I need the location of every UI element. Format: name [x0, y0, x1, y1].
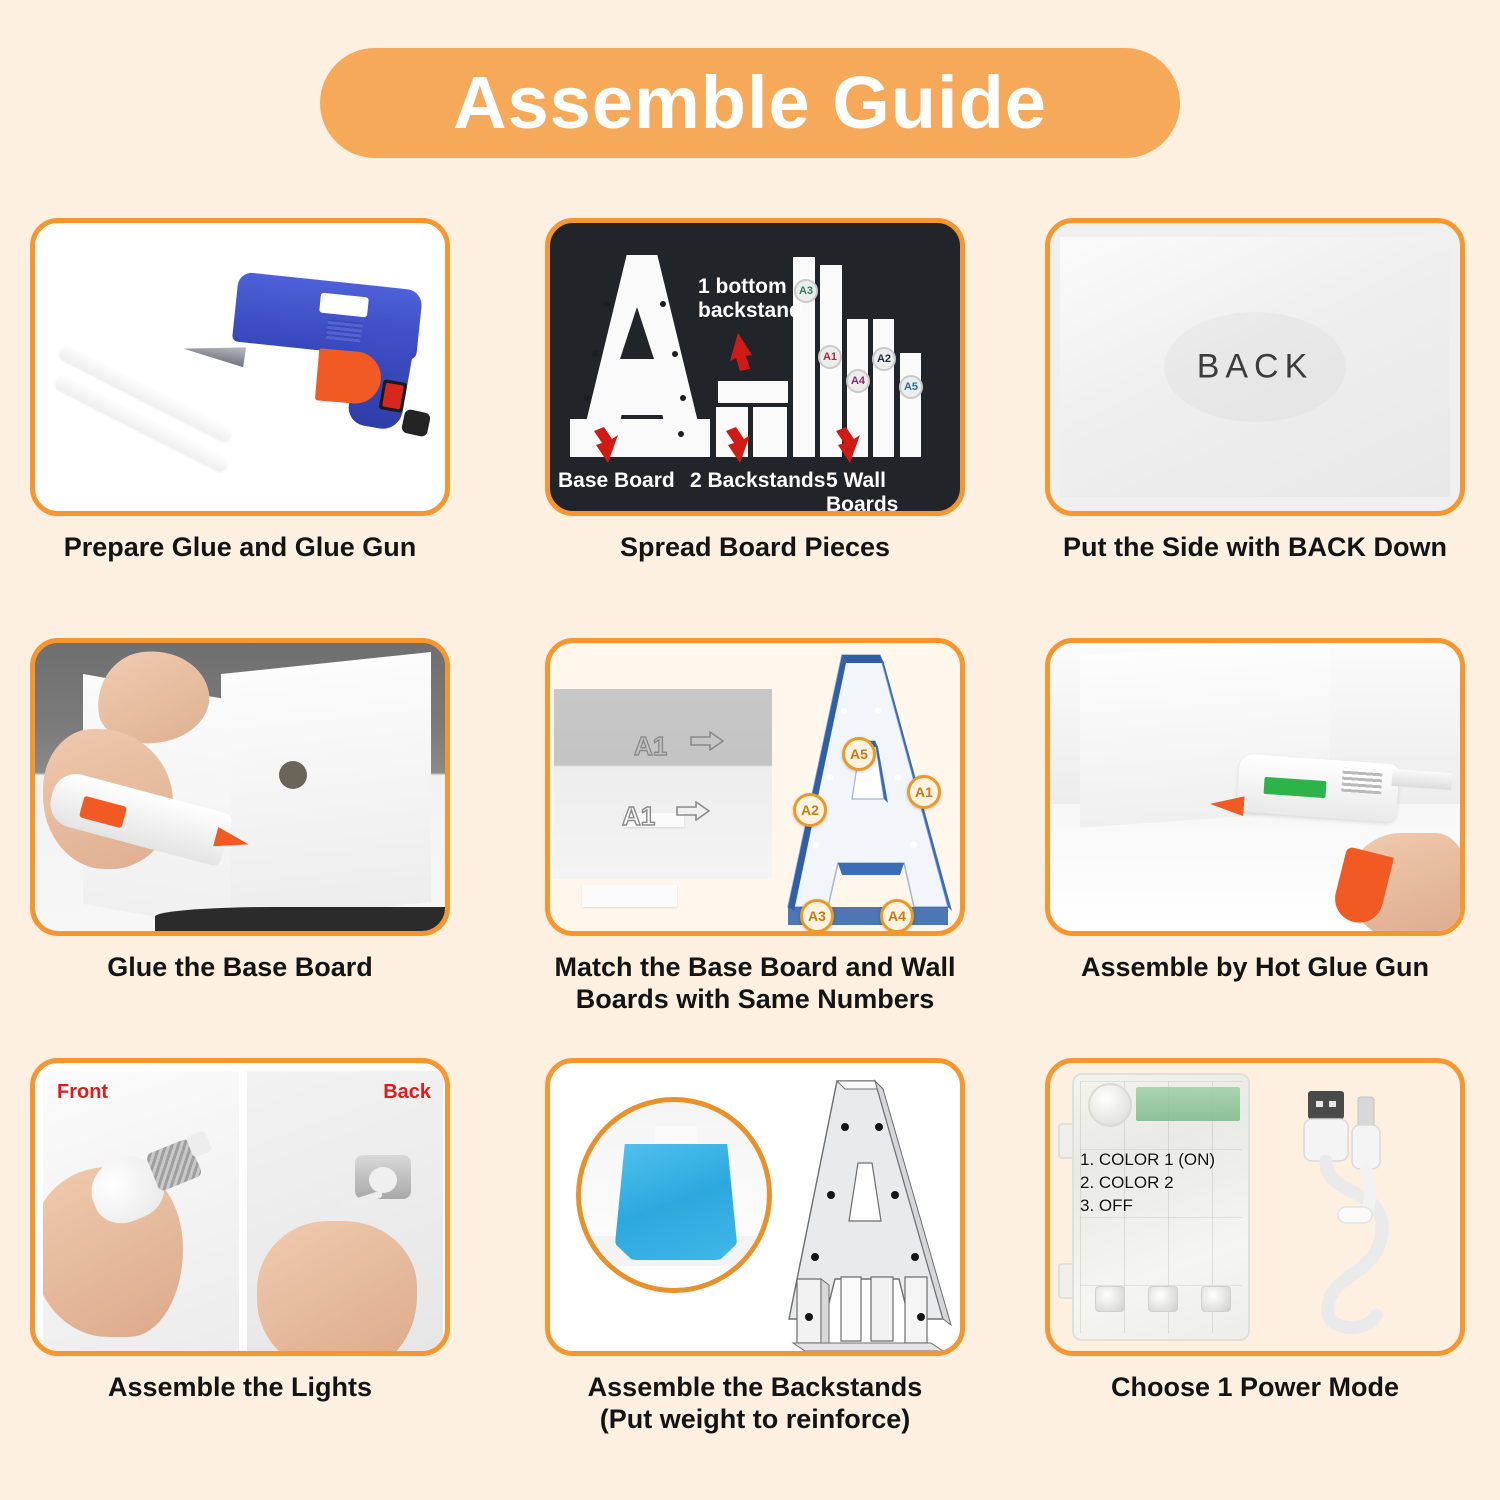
- board-pieces-diagram: A3 A1 A4 A2 A5 1 bottom backstand Base B…: [550, 223, 960, 511]
- step-5-caption: Match the Base Board and Wall Boards wit…: [545, 952, 965, 1016]
- led-hole: [678, 431, 684, 437]
- letter-badge-a3: A3: [800, 899, 834, 931]
- board-mark-a1: A1: [634, 731, 667, 762]
- annotation-base-board: Base Board: [558, 469, 675, 493]
- piece-badge-a4: A4: [846, 369, 870, 393]
- step-5-caption-line-1: Match the Base Board and Wall: [545, 952, 965, 984]
- blue-water-bag: [615, 1144, 737, 1260]
- piece-badge-a5: A5: [899, 375, 923, 399]
- match-numbers-photo: A1 A1: [550, 643, 960, 931]
- step-4-caption: Glue the Base Board: [30, 952, 450, 984]
- glue-gun-cord: [401, 409, 431, 438]
- step-9-caption: Choose 1 Power Mode: [1045, 1372, 1465, 1404]
- piece-badge-a1: A1: [818, 345, 842, 369]
- light-back-photo: Back: [247, 1071, 443, 1351]
- backstand-piece: [753, 407, 787, 457]
- step-5-caption-line-2: Boards with Same Numbers: [545, 984, 965, 1016]
- back-board-text: BACK: [1197, 348, 1314, 387]
- step-card-3: BACK Put the Side with BACK Down: [1045, 218, 1465, 564]
- wall-board-a2: [873, 319, 894, 457]
- step-9-image-panel: 1. COLOR 1 (ON) 2. COLOR 2 3. OFF: [1045, 1058, 1465, 1356]
- arrow-right-icon: [690, 731, 724, 751]
- hot-glue-gun-photo: [1050, 643, 1460, 931]
- back-board-photo: BACK: [1050, 223, 1460, 511]
- step-8-caption-line-1: Assemble the Backstands: [545, 1372, 965, 1404]
- power-mode-list: 1. COLOR 1 (ON) 2. COLOR 2 3. OFF: [1080, 1149, 1215, 1218]
- letter-badge-a4: A4: [880, 899, 914, 931]
- power-mode-photo: 1. COLOR 1 (ON) 2. COLOR 2 3. OFF: [1050, 1063, 1460, 1351]
- bottom-backstand-piece: [718, 381, 788, 403]
- steps-row-2: Glue the Base Board A1 A1: [0, 638, 1500, 1058]
- step-6-caption: Assemble by Hot Glue Gun: [1045, 952, 1465, 984]
- back-board-surface: BACK: [1060, 237, 1450, 497]
- step-card-8: Assemble the Backstands (Put weight to r…: [545, 1058, 965, 1436]
- letter-a-backstand-model: [775, 1071, 960, 1351]
- steps-grid: Prepare Glue and Glue Gun: [0, 218, 1500, 1488]
- dc-connector: [1358, 1097, 1374, 1127]
- wall-board-a5: [900, 353, 921, 457]
- hand-icon: [257, 1221, 417, 1351]
- step-8-image-panel: [545, 1058, 965, 1356]
- led-hole: [584, 395, 590, 401]
- table-edge: [155, 907, 445, 931]
- usb-a-connector: [1308, 1091, 1344, 1119]
- battery-cells: [1084, 1279, 1242, 1319]
- led-hole: [660, 301, 666, 307]
- power-mode-option-3: 3. OFF: [1080, 1195, 1215, 1218]
- step-7-caption: Assemble the Lights: [30, 1372, 450, 1404]
- backstand-piece: [716, 407, 748, 457]
- piece-badge-a2: A2: [872, 347, 896, 371]
- cable-tie: [1338, 1207, 1372, 1223]
- led-hole: [672, 351, 678, 357]
- page-title: Assemble Guide: [453, 66, 1047, 140]
- battery-box-latch: [1058, 1263, 1074, 1299]
- battery-box-circuit: [1136, 1087, 1240, 1121]
- annotation-line-1: 1 bottom: [698, 275, 802, 299]
- annotation-line-2: backstand: [698, 299, 802, 323]
- annotation-bottom-backstand: 1 bottom backstand: [698, 275, 802, 323]
- glue-base-board-photo: [35, 643, 445, 931]
- label-front: Front: [57, 1081, 108, 1104]
- usb-cable: [1272, 1077, 1452, 1339]
- weight-bag-closeup: [576, 1097, 772, 1293]
- step-7-image-panel: Front Back: [30, 1058, 450, 1356]
- battery-cell: [1201, 1286, 1231, 1312]
- white-board-right: [221, 652, 431, 924]
- bulb-socket-opening: [369, 1167, 397, 1193]
- step-4-image-panel: [30, 638, 450, 936]
- glue-gun-photo: [35, 223, 445, 511]
- glue-gun-nozzle-icon: [182, 339, 246, 367]
- board-mark-a1: A1: [622, 801, 655, 832]
- base-board-foot: [570, 419, 710, 457]
- power-mode-option-2: 2. COLOR 2: [1080, 1172, 1215, 1195]
- battery-box-latch: [1058, 1123, 1074, 1159]
- power-mode-option-1: 1. COLOR 1 (ON): [1080, 1149, 1215, 1172]
- board-closeup-photo: [554, 689, 772, 879]
- led-hole: [592, 351, 598, 357]
- letter-badge-a1: A1: [907, 775, 941, 809]
- annotation-backstands: 2 Backstands: [690, 469, 825, 493]
- led-hole: [604, 301, 610, 307]
- step-card-2: A3 A1 A4 A2 A5 1 bottom backstand Base B…: [545, 218, 965, 564]
- label-back: Back: [383, 1081, 431, 1104]
- step-5-image-panel: A1 A1: [545, 638, 965, 936]
- letter-badge-a2: A2: [793, 793, 827, 827]
- step-6-image-panel: [1045, 638, 1465, 936]
- battery-cell: [1095, 1286, 1125, 1312]
- step-2-image-panel: A3 A1 A4 A2 A5 1 bottom backstand Base B…: [545, 218, 965, 516]
- step-8-caption-line-2: (Put weight to reinforce): [545, 1404, 965, 1436]
- step-3-caption: Put the Side with BACK Down: [1045, 532, 1465, 564]
- arrow-right-icon: [676, 801, 710, 821]
- step-card-5: A1 A1: [545, 638, 965, 1016]
- glue-gun-vent: [1341, 768, 1383, 795]
- backstands-photo: [550, 1063, 960, 1351]
- step-2-caption: Spread Board Pieces: [545, 532, 965, 564]
- arrow-down-bottom-backstand: [730, 333, 752, 371]
- steps-row-3: Front Back Assemble the Lights: [0, 1058, 1500, 1488]
- board-tab: [582, 885, 677, 907]
- letter-badge-a5: A5: [842, 737, 876, 771]
- step-1-caption: Prepare Glue and Glue Gun: [30, 532, 450, 564]
- annotation-wall-boards: 5 Wall Boards: [826, 469, 960, 511]
- led-hole: [680, 395, 686, 401]
- step-card-4: Glue the Base Board: [30, 638, 450, 984]
- step-1-image-panel: [30, 218, 450, 516]
- step-3-image-panel: BACK: [1045, 218, 1465, 516]
- light-front-photo: Front: [43, 1071, 239, 1351]
- step-card-1: Prepare Glue and Glue Gun: [30, 218, 450, 564]
- bulb-hole: [279, 761, 307, 789]
- steps-row-1: Prepare Glue and Glue Gun: [0, 218, 1500, 638]
- lights-photo: Front Back: [35, 1063, 445, 1351]
- step-card-9: 1. COLOR 1 (ON) 2. COLOR 2 3. OFF: [1045, 1058, 1465, 1404]
- step-8-caption: Assemble the Backstands (Put weight to r…: [545, 1372, 965, 1436]
- page-title-banner: Assemble Guide: [320, 48, 1180, 158]
- battery-cell: [1148, 1286, 1178, 1312]
- glue-gun-power-switch: [379, 379, 408, 413]
- step-card-6: Assemble by Hot Glue Gun: [1045, 638, 1465, 984]
- battery-box-button: [1088, 1083, 1132, 1127]
- step-card-7: Front Back Assemble the Lights: [30, 1058, 450, 1404]
- led-hole: [598, 431, 604, 437]
